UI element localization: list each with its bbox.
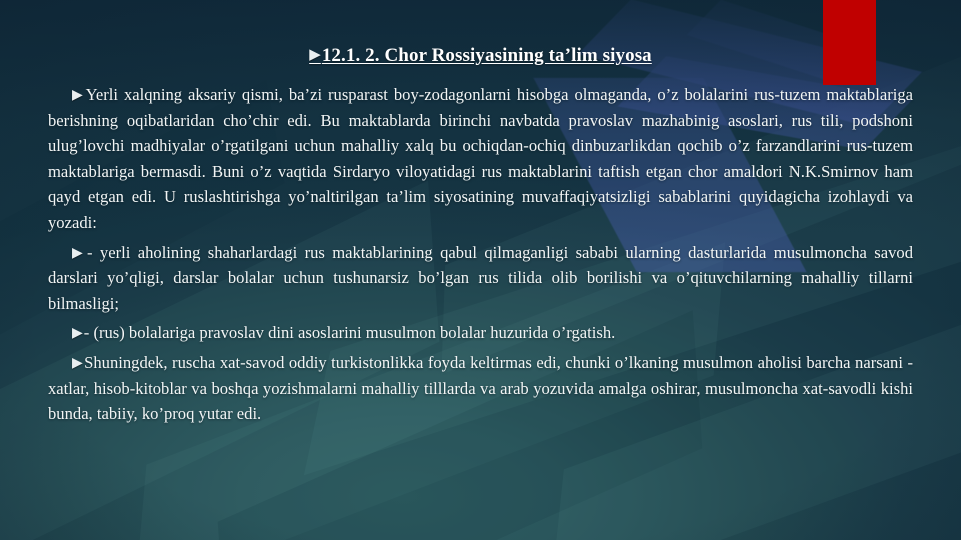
paragraph-text: Shuningdek, ruscha xat-savod oddiy turki… <box>48 353 913 423</box>
triangle-bullet-icon: ▶ <box>309 47 321 63</box>
paragraph-text: - (rus) bolalariga pravoslav dini asosla… <box>84 323 616 342</box>
bullet-paragraph-2: ▶- yerli aholining shaharlardagi rus mak… <box>48 240 913 317</box>
presentation-slide: ▶12.1. 2. Chor Rossiyasining ta’lim siyo… <box>0 0 961 540</box>
page-title: ▶12.1. 2. Chor Rossiyasining ta’lim siyo… <box>309 45 652 67</box>
slide-title: ▶12.1. 2. Chor Rossiyasining ta’lim siyo… <box>0 45 961 67</box>
bullet-paragraph-3: ▶- (rus) bolalariga pravoslav dini asosl… <box>48 320 913 346</box>
triangle-bullet-icon: ▶ <box>72 246 86 261</box>
triangle-bullet-icon: ▶ <box>72 88 85 103</box>
slide-body: ▶Yerli xalqning aksariy qismi, ba’zi rus… <box>48 82 913 427</box>
page-title-text: 12.1. 2. Chor Rossiyasining ta’lim siyos… <box>322 45 652 66</box>
slide-content: ▶12.1. 2. Chor Rossiyasining ta’lim siyo… <box>0 0 961 540</box>
paragraph-text: - yerli aholining shaharlardagi rus makt… <box>48 243 913 313</box>
triangle-bullet-icon: ▶ <box>72 356 83 371</box>
bullet-paragraph-1: ▶Yerli xalqning aksariy qismi, ba’zi rus… <box>48 82 913 236</box>
bullet-paragraph-4: ▶Shuningdek, ruscha xat-savod oddiy turk… <box>48 350 913 427</box>
paragraph-text: Yerli xalqning aksariy qismi, ba’zi rusp… <box>48 85 913 232</box>
triangle-bullet-icon: ▶ <box>72 326 83 341</box>
